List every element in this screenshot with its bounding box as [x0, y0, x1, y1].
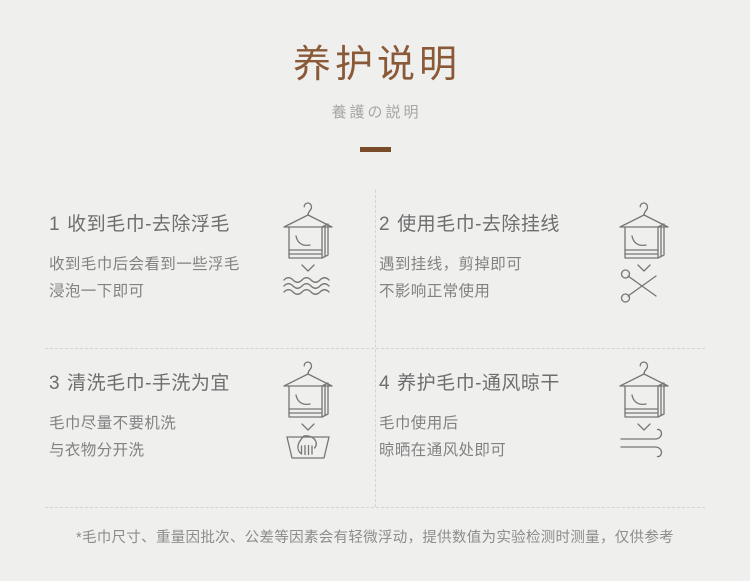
page-title: 养护说明: [0, 42, 750, 88]
care-step-index: 2: [379, 214, 390, 235]
care-step-title: 使用毛巾-去除挂线: [397, 214, 560, 235]
care-step-3: 3清洗毛巾-手洗为宜 毛巾尽量不要机洗 与衣物分开洗: [45, 349, 375, 507]
footer-disclaimer: *毛巾尺寸、重量因批次、公差等因素会有轻微浮动，提供数值为实验检测时测量，仅供参…: [0, 527, 750, 549]
care-instructions-page: 养护说明 養護の説明 1收到毛巾-去除浮毛 收到毛巾后会看到一些浮毛 浸泡一下即…: [0, 0, 750, 581]
towel-hanger-scissors-icon: [611, 200, 677, 305]
care-step-title: 清洗毛巾-手洗为宜: [67, 373, 230, 394]
towel-hanger-waves-icon: [275, 200, 341, 305]
care-step-2: 2使用毛巾-去除挂线 遇到挂线，剪掉即可 不影响正常使用: [375, 190, 705, 348]
towel-hanger-handwash-icon: [275, 359, 341, 464]
divider-horizontal-bottom: [45, 507, 705, 508]
care-step-title: 收到毛巾-去除浮毛: [67, 214, 230, 235]
care-steps-grid: 1收到毛巾-去除浮毛 收到毛巾后会看到一些浮毛 浸泡一下即可: [45, 190, 705, 507]
care-step-index: 4: [379, 373, 390, 394]
care-step-index: 3: [49, 373, 60, 394]
care-step-1: 1收到毛巾-去除浮毛 收到毛巾后会看到一些浮毛 浸泡一下即可: [45, 190, 375, 348]
page-footer: *毛巾尺寸、重量因批次、公差等因素会有轻微浮动，提供数值为实验检测时测量，仅供参…: [0, 527, 750, 549]
title-accent-bar: [360, 147, 391, 152]
towel-hanger-airdry-icon: [611, 359, 677, 464]
page-header: 养护说明 養護の説明: [0, 0, 750, 152]
care-step-4: 4养护毛巾-通风晾干 毛巾使用后 晾晒在通风处即可: [375, 349, 705, 507]
page-subtitle: 養護の説明: [0, 102, 750, 124]
care-step-title: 养护毛巾-通风晾干: [397, 373, 560, 394]
care-step-index: 1: [49, 214, 60, 235]
